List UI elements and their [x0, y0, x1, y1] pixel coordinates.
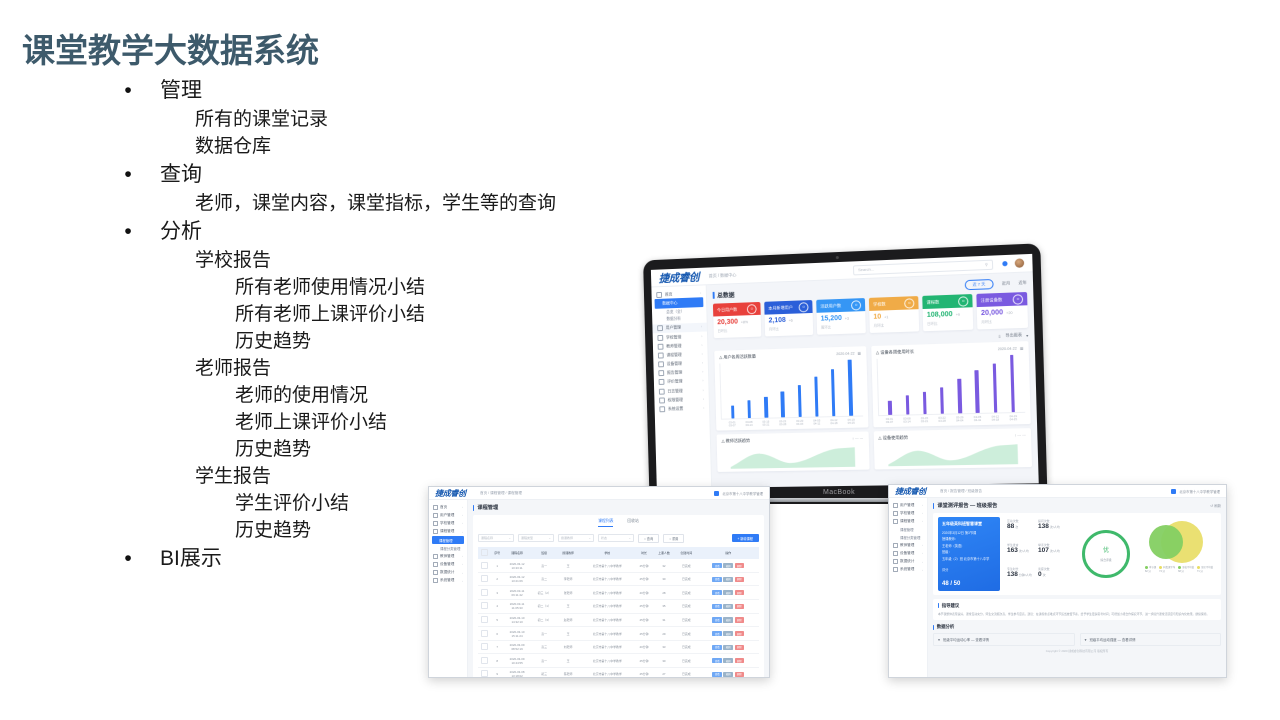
- xtick-7: 04-1904-25: [1009, 415, 1019, 422]
- action-删除[interactable]: 删除: [735, 590, 745, 595]
- outline-item-1: 所有的课堂记录: [195, 106, 758, 133]
- chart-bar-3: [781, 392, 785, 417]
- cell-3: 初二（1）: [531, 600, 557, 614]
- cell-2: 2020-03-0910:44:55: [503, 654, 532, 668]
- analysis-cards: ♥班级平均运动心率 — 查看详情♥班级平均运动强度 — 查看详情: [933, 633, 1221, 646]
- sidebar-item-4[interactable]: 课程分类管理: [889, 533, 927, 541]
- metric-grid: 互动次数88次提问次数138次/人均学生发言163次/人均举手次数107次/人均…: [1004, 517, 1070, 591]
- sidebar-item-2[interactable]: 课程管理›: [889, 517, 927, 525]
- select-all-checkbox[interactable]: [481, 549, 488, 556]
- venn-diagram: [1145, 520, 1213, 564]
- column-header-5: 学校: [579, 547, 635, 559]
- analysis-card-0[interactable]: ♥班级平均运动心率 — 查看详情: [933, 633, 1075, 646]
- legend-label: 同类课平均: [1163, 566, 1175, 569]
- row-actions: 查看编辑删除: [698, 563, 759, 568]
- chevron-right-icon: ›: [702, 352, 703, 356]
- xtick-2: 03-1503-21: [920, 417, 929, 424]
- cell-3: 初三: [531, 668, 557, 679]
- score-value: 48 / 50: [942, 581, 996, 587]
- sidebar-item-label: 系统管理: [440, 578, 454, 583]
- breadcrumb: 首页 / 数据中心: [709, 272, 737, 279]
- row-actions: 查看编辑删除: [698, 590, 759, 595]
- column-header-1: 序号: [492, 547, 503, 559]
- stat-card-0[interactable]: 今日用户数○20,300+8%日环比: [713, 302, 761, 338]
- menu-icon: [433, 562, 438, 567]
- action-编辑[interactable]: 编辑: [723, 617, 733, 622]
- row-checkbox[interactable]: [481, 562, 488, 569]
- header-right: 北京市第十八中学教学管理: [1171, 489, 1220, 494]
- action-编辑[interactable]: 编辑: [723, 604, 733, 609]
- cell-9: 查看编辑删除: [698, 559, 759, 572]
- school-icon: [657, 334, 663, 340]
- chart-tools: ↑ ⋯ ⋯: [852, 437, 863, 441]
- dashboard-app: 捷成睿创 首页 / 数据中心 Search... ⚲ 首页›数据中心总览（全）数…: [651, 254, 1039, 489]
- class-line-2: 王老师（英语）: [942, 543, 996, 548]
- cell-9: 查看编辑删除: [698, 600, 759, 614]
- cell-3: 高三: [531, 640, 557, 654]
- filter-input-3[interactable]: 状态⌄: [598, 534, 634, 543]
- stat-card-body: 15,200+3周环比: [817, 311, 866, 335]
- stat-card-value: 20,300+8%: [717, 318, 757, 326]
- stat-card-body: 20,000+20月环比: [977, 305, 1028, 329]
- chevron-right-icon: ›: [922, 519, 923, 523]
- row-checkbox[interactable]: [481, 575, 488, 582]
- outline-label: 管理: [138, 76, 202, 106]
- table-row: 22020-03-1213:21:06高二李老师北京市第十八中学教学45分钟30…: [478, 572, 759, 586]
- cell-1: 8: [492, 654, 503, 668]
- chart-bar-1: [748, 400, 752, 418]
- bar-chart-0: △ 用户各周活跃数量2020-04-22▦03-0103-0703-0803-1…: [714, 346, 868, 431]
- chevron-down-icon: ▾: [1026, 332, 1028, 337]
- metric-0: 互动次数88次: [1007, 519, 1036, 541]
- cell-7: 28: [653, 586, 675, 600]
- cell-1: 6: [492, 627, 503, 641]
- row-actions: 查看编辑删除: [698, 577, 759, 582]
- chevron-right-icon: ›: [700, 291, 701, 295]
- reset-button[interactable]: ○ 重置: [663, 534, 684, 543]
- window-main: 课程管理 课程列表回收站 课程名称⌄课程类型⌄授课教师⌄状态⌄○ 查询○ 重置+…: [468, 500, 769, 678]
- cell-9: 查看编辑删除: [698, 586, 759, 600]
- sidebar-item-0[interactable]: 首页›: [429, 503, 467, 511]
- filter-placeholder: 课程名称: [481, 536, 493, 540]
- page-header: 课程管理: [473, 504, 764, 511]
- sidebar-item-6[interactable]: 教师管理›: [429, 552, 467, 560]
- cell-9: 查看编辑删除: [698, 627, 759, 641]
- table-row: 92020-03-0813:18:02初三陈老师北京市第十八中学教学45分钟27…: [478, 668, 759, 679]
- action-编辑[interactable]: 编辑: [723, 658, 733, 663]
- stat-card-5[interactable]: 注册设备数○20,000+20月环比: [976, 292, 1028, 329]
- cell-0: [478, 559, 492, 572]
- chart-date-value: 2020-04-22: [836, 352, 854, 357]
- row-checkbox[interactable]: [481, 616, 488, 623]
- grade-value: 优: [1103, 545, 1109, 554]
- add-course-button[interactable]: + 新增课程: [732, 534, 760, 542]
- action-编辑[interactable]: 编辑: [723, 672, 733, 677]
- chevron-right-icon: ›: [462, 505, 463, 509]
- stat-card-2[interactable]: 活跃用户数○15,200+3周环比: [816, 298, 866, 335]
- xtick-6: 04-1204-18: [829, 419, 838, 426]
- sidebar-item-1[interactable]: 学校管理›: [889, 509, 927, 517]
- breadcrumb: 首页 / 报告管理 / 班级报告: [940, 489, 982, 494]
- sidebar-item-5[interactable]: 教师管理›: [889, 541, 927, 549]
- row-actions: 查看编辑删除: [698, 617, 759, 622]
- action-删除[interactable]: 删除: [735, 658, 745, 663]
- chevron-right-icon: ›: [703, 397, 704, 401]
- action-编辑[interactable]: 编辑: [723, 631, 733, 636]
- action-编辑[interactable]: 编辑: [723, 577, 733, 582]
- bullet-dot: •: [118, 544, 138, 574]
- chart-bar-5: [814, 376, 818, 416]
- row-checkbox[interactable]: [481, 657, 488, 664]
- stat-subtext: 日环比: [717, 327, 757, 333]
- menu-icon: [893, 519, 898, 524]
- action-查看[interactable]: 查看: [712, 563, 722, 568]
- stat-delta: +8%: [741, 320, 748, 324]
- cell-5: 北京市第十八中学教学: [579, 572, 635, 586]
- table-row: 62020-03-1015:11:24高一王北京市第十八中学教学45分钟29已完…: [478, 627, 759, 641]
- legend-item-1: 同类课平均74 分: [1159, 565, 1175, 573]
- filter-input-1[interactable]: 课程类型⌄: [518, 534, 554, 543]
- cell-4: 王: [557, 654, 579, 668]
- cell-8: 已完成: [675, 668, 697, 679]
- cell-1: 9: [492, 668, 503, 679]
- metric-value: 88次: [1007, 523, 1036, 530]
- metric-unit: 次/人均: [1050, 549, 1060, 553]
- sidebar-item-4[interactable]: 课程管理: [432, 536, 464, 545]
- cell-9: 查看编辑删除: [698, 654, 759, 668]
- cell-3: 高一: [531, 654, 557, 668]
- range-tab-2[interactable]: 近年: [1018, 280, 1026, 286]
- refresh-button[interactable]: ↺ 刷新: [1210, 503, 1221, 508]
- action-编辑[interactable]: 编辑: [723, 590, 733, 595]
- sidebar-item-3[interactable]: 课程管理›: [429, 528, 467, 536]
- column-header-4: 授课教师: [557, 547, 579, 559]
- stat-card-value: 10+1: [873, 312, 914, 320]
- accent-bar: [933, 625, 934, 630]
- chart-date: 2020-04-22▦: [998, 346, 1024, 351]
- outline-label: BI展示: [138, 544, 222, 574]
- class-info-card: 五年级英科班智慧课堂 2020年3月12日 第3节课授课教师：王老师（英语）班级…: [938, 517, 1000, 591]
- sidebar-item-label: 学校管理: [440, 521, 454, 526]
- cell-2: 2020-03-1014:32:10: [503, 613, 532, 627]
- star-icon: [659, 379, 665, 385]
- action-查看[interactable]: 查看: [712, 617, 722, 622]
- chevron-right-icon: ›: [462, 513, 463, 517]
- chart-tools: ↑ ⋯ ⋯: [1014, 434, 1026, 438]
- metric-1: 提问次数138次/人均: [1038, 519, 1067, 541]
- metric-5: 离座次数0次: [1038, 567, 1067, 589]
- sidebar-item-label: 设备管理: [440, 562, 454, 567]
- users-icon: [657, 325, 663, 331]
- menu-icon: [433, 578, 438, 583]
- cell-0: [478, 640, 492, 654]
- table-row: 52020-03-1014:32:10初二（3）赵老师北京市第十八中学教学45分…: [478, 613, 759, 627]
- xtick-5: 04-0504-11: [812, 419, 821, 426]
- column-header-8: 创建时间: [675, 547, 697, 559]
- cell-1: 7: [492, 640, 503, 654]
- chevron-right-icon: ›: [462, 571, 463, 575]
- legend-value: 74 分: [1159, 569, 1175, 573]
- cell-5: 北京市第十八中学教学: [579, 654, 635, 668]
- sidebar-item-5[interactable]: 课程分类管理: [429, 544, 467, 552]
- tab-bar[interactable]: 课程列表回收站: [478, 519, 759, 530]
- action-查看[interactable]: 查看: [712, 631, 722, 636]
- stat-card-title: 本月新增用户: [768, 304, 793, 311]
- metric-2: 学生发言163次/人均: [1007, 543, 1036, 565]
- chevron-right-icon: ›: [922, 543, 923, 547]
- sidebar-item-label: 设备管理: [667, 361, 682, 367]
- bullet-dot: •: [118, 160, 138, 190]
- accent-bar: [933, 503, 934, 509]
- sidebar-item-6[interactable]: 设备管理›: [889, 549, 927, 557]
- sidebar-item-8[interactable]: 系统管理›: [889, 566, 927, 574]
- dashboard-sidebar: 首页›数据中心总览（全）数据分析用户管理›学校管理›教师管理›课程管理›设备管理…: [651, 285, 712, 488]
- sidebar-item-2[interactable]: 学校管理›: [429, 519, 467, 527]
- cell-1: 1: [492, 559, 503, 572]
- sidebar-item-9[interactable]: 系统管理›: [429, 577, 467, 585]
- row-checkbox[interactable]: [481, 670, 488, 677]
- cell-4: 赵老师: [557, 613, 579, 627]
- cell-5: 北京市第十八中学教学: [579, 559, 635, 572]
- sidebar-item-label: 教师管理: [440, 554, 454, 559]
- menu-icon: [433, 521, 438, 526]
- chart-bar-0: [888, 401, 892, 415]
- chart-bar-3: [940, 387, 944, 413]
- cell-0: [478, 586, 492, 600]
- advice-title: 指导建议: [942, 603, 960, 609]
- sidebar-item-label: 首页: [665, 291, 673, 297]
- table-row: 42020-03-1111:05:33初二（1）王北京市第十八中学教学45分钟3…: [478, 600, 759, 614]
- cell-8: 已完成: [675, 586, 697, 600]
- chevron-right-icon: ›: [462, 579, 463, 583]
- sidebar-item-label: 学校管理: [900, 511, 914, 516]
- chevron-right-icon: ›: [701, 325, 702, 329]
- xtick-1: 03-0803-14: [745, 420, 754, 427]
- filter-placeholder: 状态: [601, 536, 607, 540]
- xtick-3: 03-2203-28: [937, 416, 946, 423]
- table-row: 82020-03-0910:44:55高一王北京市第十八中学教学45分钟30已完…: [478, 654, 759, 668]
- stat-subtext: 日环比: [927, 320, 969, 326]
- cell-2: 2020-03-1109:11:42: [503, 586, 532, 600]
- org-label: 北京市第十八中学教学管理: [1179, 489, 1220, 494]
- action-删除[interactable]: 删除: [735, 631, 745, 636]
- cell-9: 查看编辑删除: [698, 640, 759, 654]
- cell-6: 40分钟: [635, 586, 652, 600]
- chevron-down-icon: ⌄: [588, 536, 591, 540]
- action-删除[interactable]: 删除: [735, 672, 745, 677]
- action-查看[interactable]: 查看: [712, 604, 722, 609]
- cell-4: 张老师: [557, 586, 579, 600]
- chart-title: △ 设备使用趋势: [878, 435, 908, 442]
- metric-number: 138: [1038, 523, 1049, 530]
- cell-0: [478, 668, 492, 679]
- chart-header: △ 教师活跃趋势↑ ⋯ ⋯: [721, 436, 863, 445]
- accent-bar: [938, 603, 939, 608]
- chart-plot: [876, 355, 1025, 417]
- action-删除[interactable]: 删除: [735, 563, 745, 568]
- chart-bar-6: [831, 369, 836, 416]
- cell-0: [478, 572, 492, 586]
- outline-item-2: 数据仓库: [195, 133, 758, 160]
- cell-4: 陈老师: [557, 668, 579, 679]
- action-删除[interactable]: 删除: [735, 645, 745, 650]
- action-查看[interactable]: 查看: [712, 645, 722, 650]
- outline-item-3: •查询: [118, 160, 758, 190]
- chevron-right-icon: ›: [462, 562, 463, 566]
- avatar[interactable]: [1015, 258, 1025, 268]
- range-tab-0[interactable]: 近 7 天: [964, 279, 994, 290]
- advice-block: 指导建议 本节课整体表现良好，课堂互动充分，师生交流频次高，学生参与度高。建议：…: [933, 599, 1221, 620]
- heart-icon: ♥: [938, 638, 940, 642]
- sidebar-item-label: 教师管理: [900, 543, 914, 548]
- cell-9: 查看编辑删除: [698, 572, 759, 586]
- cell-2: 2020-03-1213:21:06: [503, 572, 532, 586]
- table-body: 12020-03-1210:23:11高一王北京市第十八中学教学45分钟32已完…: [478, 559, 759, 678]
- metric-unit: 分钟/人均: [1019, 573, 1032, 577]
- window-main: 课堂测评报告 — 班级报告 ↺ 刷新 五年级英科班智慧课堂 2020年3月12日…: [928, 498, 1226, 678]
- action-删除[interactable]: 删除: [735, 617, 745, 622]
- chart-bar-4: [957, 379, 961, 414]
- chart-date: 2020-04-22▦: [836, 351, 861, 356]
- chevron-down-icon: ⌄: [508, 536, 511, 540]
- sidebar-item-3[interactable]: 课程管理: [889, 526, 927, 534]
- row-checkbox[interactable]: [481, 602, 488, 609]
- cell-3: 高二: [531, 572, 557, 586]
- sidebar-item-7[interactable]: 数据统计›: [889, 558, 927, 566]
- comparison-card: 本节课82 分同类课平均74 分全校平均值68 分全区平均值71 分: [1142, 517, 1216, 591]
- stat-card-1[interactable]: 本月新增用户○2,108+6月环比: [764, 300, 813, 336]
- header-right: 北京市第十八中学教学管理: [714, 491, 763, 496]
- search-button[interactable]: ○ 查询: [638, 534, 659, 543]
- metric-value: 138次/人均: [1038, 523, 1067, 530]
- cell-7: 27: [653, 668, 675, 679]
- menu-icon: [433, 505, 438, 510]
- bell-icon[interactable]: [1002, 261, 1007, 266]
- calendar-icon: ▦: [857, 351, 861, 355]
- sidebar-item-8[interactable]: 数据统计›: [429, 569, 467, 577]
- action-删除[interactable]: 删除: [735, 604, 745, 609]
- cell-6: 45分钟: [635, 668, 652, 679]
- stat-delta: +6: [789, 319, 793, 323]
- report-summary-panel: 五年级英科班智慧课堂 2020年3月12日 第3节课授课教师：王老师（英语）班级…: [933, 513, 1221, 595]
- chevron-right-icon: ›: [462, 521, 463, 525]
- filter-input-2[interactable]: 授课教师⌄: [558, 534, 594, 543]
- sidebar-item-0[interactable]: 用户管理›: [889, 501, 927, 509]
- cell-7: 35: [653, 600, 675, 614]
- column-header-9: 操作: [698, 547, 759, 559]
- stat-card-title: 活跃用户数: [820, 302, 841, 309]
- cell-3: 初二（3）: [531, 613, 557, 627]
- chart-bar-7: [1010, 355, 1015, 412]
- search-icon: ⚲: [985, 262, 988, 267]
- action-查看[interactable]: 查看: [712, 590, 722, 595]
- camera-icon: ○: [904, 298, 914, 308]
- tab-0[interactable]: 课程列表: [598, 519, 613, 527]
- sidebar-item-13[interactable]: 系统设置›: [655, 404, 710, 414]
- cell-0: [478, 627, 492, 641]
- chart-header: △ 设备使用趋势↑ ⋯ ⋯: [878, 433, 1026, 442]
- sidebar-item-7[interactable]: 设备管理›: [429, 560, 467, 568]
- page-header: 课堂测评报告 — 班级报告 ↺ 刷新: [933, 502, 1221, 509]
- sidebar-item-label: 课程管理: [900, 519, 914, 524]
- action-查看[interactable]: 查看: [712, 658, 722, 663]
- cell-8: 已完成: [675, 572, 697, 586]
- chevron-down-icon: ⌄: [628, 536, 631, 540]
- cell-0: [478, 600, 492, 614]
- row-checkbox[interactable]: [481, 643, 488, 650]
- cell-1: 3: [492, 586, 503, 600]
- sidebar-item-1[interactable]: 用户管理›: [429, 511, 467, 519]
- menu-icon: [433, 529, 438, 534]
- cell-2: 2020-03-1210:23:11: [503, 559, 532, 572]
- action-查看[interactable]: 查看: [712, 672, 722, 677]
- stat-delta: +1: [884, 315, 888, 319]
- book-icon: [658, 352, 664, 358]
- cell-5: 北京市第十八中学教学: [579, 627, 635, 641]
- window-header: 捷成睿创 首页 / 报告管理 / 班级报告 北京市第十八中学教学管理: [889, 485, 1226, 498]
- row-checkbox[interactable]: [481, 630, 488, 637]
- search-input[interactable]: Search... ⚲: [853, 259, 993, 275]
- metric-3: 举手次数107次/人均: [1038, 543, 1067, 565]
- sidebar-item-label: 学校管理: [666, 334, 681, 340]
- action-编辑[interactable]: 编辑: [723, 645, 733, 650]
- filter-placeholder: 授课教师: [561, 536, 573, 540]
- range-tabs[interactable]: 近 7 天近月近年: [964, 278, 1027, 291]
- grade-ring: 优 综合评级: [1082, 530, 1130, 578]
- stat-card-3[interactable]: 学校数○10+1月环比: [869, 296, 919, 333]
- cell-7: 29: [653, 627, 675, 641]
- action-删除[interactable]: 删除: [735, 577, 745, 582]
- user-add-icon: ○: [799, 302, 809, 312]
- action-编辑[interactable]: 编辑: [723, 563, 733, 568]
- analysis-card-1[interactable]: ♥班级平均运动强度 — 查看详情: [1080, 633, 1222, 646]
- window-body: 用户管理›学校管理›课程管理›课程管理课程分类管理教师管理›设备管理›数据统计›…: [889, 498, 1226, 678]
- stat-value-number: 20,000: [981, 309, 1003, 317]
- filter-input-0[interactable]: 课程名称⌄: [478, 534, 514, 543]
- xtick-0: 03-0103-07: [728, 421, 737, 428]
- analysis-title: 数据分析: [937, 624, 955, 630]
- analysis-header: 数据分析: [933, 624, 1221, 630]
- action-查看[interactable]: 查看: [712, 577, 722, 582]
- cell-3: 初三（2）: [531, 586, 557, 600]
- range-tab-1[interactable]: 近月: [1002, 280, 1010, 286]
- stat-card-value: 108,000+9: [927, 310, 969, 319]
- cell-0: [478, 613, 492, 627]
- metric-value: 163次/人均: [1007, 547, 1036, 554]
- cell-5: 北京市第十八中学教学: [579, 600, 635, 614]
- org-icon: [714, 491, 719, 496]
- tab-1[interactable]: 回收站: [627, 519, 638, 527]
- stat-card-title: 今日用户数: [717, 306, 737, 313]
- chevron-right-icon: ›: [703, 388, 704, 392]
- column-header-0: [478, 547, 492, 559]
- cell-7: 31: [653, 613, 675, 627]
- stat-card-4[interactable]: 课程数○108,000+9日环比: [922, 294, 973, 331]
- row-checkbox[interactable]: [481, 589, 488, 596]
- cell-2: 2020-03-1111:05:33: [503, 600, 532, 614]
- bullet-dot: •: [118, 76, 138, 106]
- cell-9: 查看编辑删除: [698, 613, 759, 627]
- menu-icon: [433, 570, 438, 575]
- chart-title: △ 教师活跃趋势: [721, 438, 750, 444]
- filter-bar[interactable]: 课程名称⌄课程类型⌄授课教师⌄状态⌄○ 查询○ 重置+ 新增课程: [478, 534, 759, 543]
- sidebar-item-label: 系统设置: [668, 406, 683, 412]
- cell-6: 45分钟: [635, 559, 652, 572]
- legend-item-3: 全区平均值71 分: [1197, 565, 1213, 573]
- stat-value-number: 10: [873, 314, 881, 321]
- filter-placeholder: 课程类型: [521, 536, 533, 540]
- analysis-card-label: 班级平均运动强度 — 查看详情: [1090, 637, 1136, 642]
